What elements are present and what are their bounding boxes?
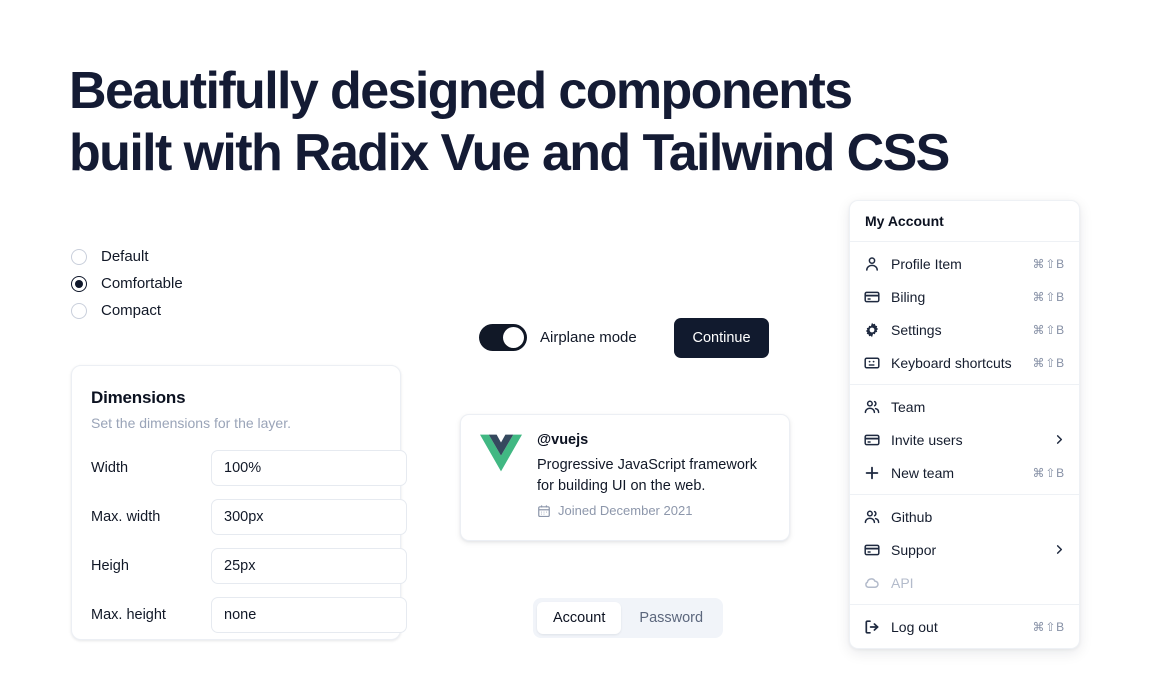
vue-logo-icon bbox=[480, 434, 522, 472]
tab-account[interactable]: Account bbox=[537, 602, 621, 634]
radio-option-label: Comfortable bbox=[101, 275, 183, 292]
radio-option-default[interactable]: Default bbox=[71, 248, 183, 265]
vue-joined-row: Joined December 2021 bbox=[537, 503, 770, 518]
vue-description: Progressive JavaScript framework for bui… bbox=[537, 455, 770, 497]
vue-hover-card-body: @vuejs Progressive JavaScript framework … bbox=[537, 432, 770, 523]
dimension-input[interactable] bbox=[211, 548, 407, 584]
dimension-input[interactable] bbox=[211, 450, 407, 486]
keyboard-icon bbox=[864, 355, 880, 371]
radio-option-label: Compact bbox=[101, 302, 161, 319]
menu-item-label: Keyboard shortcuts bbox=[891, 355, 1022, 371]
menu-item-settings[interactable]: Settings⌘⇧B bbox=[850, 313, 1079, 346]
gear-icon bbox=[864, 322, 880, 338]
dimension-row: Max. width bbox=[91, 499, 381, 535]
credit-card-icon bbox=[864, 432, 880, 448]
menu-item-keyboard-shortcuts[interactable]: Keyboard shortcuts⌘⇧B bbox=[850, 346, 1079, 379]
dimensions-card-title: Dimensions bbox=[91, 388, 381, 408]
menu-item-label: Log out bbox=[891, 619, 1022, 635]
credit-card-icon bbox=[864, 542, 880, 558]
dimension-row: Max. height bbox=[91, 597, 381, 633]
menu-item-team[interactable]: Team bbox=[850, 390, 1079, 423]
users-icon bbox=[864, 399, 880, 415]
dimension-row: Width bbox=[91, 450, 381, 486]
menu-item-log-out[interactable]: Log out⌘⇧B bbox=[850, 610, 1079, 643]
menu-item-label: Suppor bbox=[891, 542, 1043, 558]
dimension-row: Heigh bbox=[91, 548, 381, 584]
page-title-line-2: built with Radix Vue and Tailwind CSS bbox=[69, 122, 1029, 184]
dimensions-card-subtitle: Set the dimensions for the layer. bbox=[91, 415, 381, 431]
plus-icon bbox=[864, 465, 880, 481]
calendar-icon bbox=[537, 504, 551, 518]
menu-label: My Account bbox=[850, 201, 1079, 241]
credit-card-icon bbox=[864, 289, 880, 305]
account-dropdown-menu: My Account Profile Item⌘⇧BBiling⌘⇧BSetti… bbox=[849, 200, 1080, 649]
menu-item-label: Settings bbox=[891, 322, 1022, 338]
dimensions-field-list: WidthMax. widthHeighMax. height bbox=[91, 450, 381, 633]
menu-item-new-team[interactable]: New team⌘⇧B bbox=[850, 456, 1079, 489]
menu-item-profile-item[interactable]: Profile Item⌘⇧B bbox=[850, 247, 1079, 280]
tab-password[interactable]: Password bbox=[623, 602, 719, 634]
cloud-icon bbox=[864, 575, 880, 591]
radio-unchecked-icon[interactable] bbox=[71, 249, 87, 265]
user-icon bbox=[864, 256, 880, 272]
radio-option-compact[interactable]: Compact bbox=[71, 302, 183, 319]
radio-option-comfortable[interactable]: Comfortable bbox=[71, 275, 183, 292]
menu-item-suppor[interactable]: Suppor bbox=[850, 533, 1079, 566]
menu-item-label: New team bbox=[891, 465, 1022, 481]
menu-item-shortcut: ⌘⇧B bbox=[1033, 290, 1065, 304]
menu-item-shortcut: ⌘⇧B bbox=[1033, 620, 1065, 634]
logout-icon bbox=[864, 619, 880, 635]
vue-hover-card: @vuejs Progressive JavaScript framework … bbox=[460, 414, 790, 541]
menu-item-invite-users[interactable]: Invite users bbox=[850, 423, 1079, 456]
menu-group: Log out⌘⇧B bbox=[850, 605, 1079, 648]
menu-item-api: API bbox=[850, 566, 1079, 599]
dimensions-card: Dimensions Set the dimensions for the la… bbox=[71, 365, 401, 640]
menu-item-shortcut: ⌘⇧B bbox=[1033, 466, 1065, 480]
menu-group: GithubSupporAPI bbox=[850, 495, 1079, 604]
menu-item-biling[interactable]: Biling⌘⇧B bbox=[850, 280, 1079, 313]
menu-item-label: API bbox=[891, 575, 1065, 591]
page-title: Beautifully designed components built wi… bbox=[69, 60, 1029, 184]
airplane-mode-row: Airplane mode bbox=[479, 324, 637, 351]
menu-item-shortcut: ⌘⇧B bbox=[1033, 257, 1065, 271]
menu-item-shortcut: ⌘⇧B bbox=[1033, 356, 1065, 370]
dimension-label: Width bbox=[91, 460, 211, 476]
dimension-input[interactable] bbox=[211, 499, 407, 535]
vue-handle: @vuejs bbox=[537, 432, 770, 448]
chevron-right-icon bbox=[1054, 434, 1065, 445]
menu-item-shortcut: ⌘⇧B bbox=[1033, 323, 1065, 337]
radio-group: DefaultComfortableCompact bbox=[71, 248, 183, 319]
vue-joined-text: Joined December 2021 bbox=[558, 503, 692, 518]
radio-checked-icon[interactable] bbox=[71, 276, 87, 292]
page-title-line-1: Beautifully designed components bbox=[69, 60, 1029, 122]
menu-item-label: Team bbox=[891, 399, 1065, 415]
menu-item-label: Biling bbox=[891, 289, 1022, 305]
dimension-label: Heigh bbox=[91, 558, 211, 574]
menu-group: Profile Item⌘⇧BBiling⌘⇧BSettings⌘⇧BKeybo… bbox=[850, 242, 1079, 384]
menu-groups: Profile Item⌘⇧BBiling⌘⇧BSettings⌘⇧BKeybo… bbox=[850, 241, 1079, 648]
radio-unchecked-icon[interactable] bbox=[71, 303, 87, 319]
switch-knob-icon bbox=[503, 327, 524, 348]
dimension-label: Max. height bbox=[91, 607, 211, 623]
airplane-mode-label: Airplane mode bbox=[540, 329, 637, 346]
menu-item-label: Invite users bbox=[891, 432, 1043, 448]
dimension-label: Max. width bbox=[91, 509, 211, 525]
dimension-input[interactable] bbox=[211, 597, 407, 633]
users-icon bbox=[864, 509, 880, 525]
airplane-mode-switch[interactable] bbox=[479, 324, 527, 351]
chevron-right-icon bbox=[1054, 544, 1065, 555]
menu-item-github[interactable]: Github bbox=[850, 500, 1079, 533]
radio-option-label: Default bbox=[101, 248, 149, 265]
menu-group: TeamInvite usersNew team⌘⇧B bbox=[850, 385, 1079, 494]
menu-item-label: Profile Item bbox=[891, 256, 1022, 272]
settings-tabs: AccountPassword bbox=[533, 598, 723, 638]
menu-item-label: Github bbox=[891, 509, 1065, 525]
continue-button[interactable]: Continue bbox=[674, 318, 769, 358]
